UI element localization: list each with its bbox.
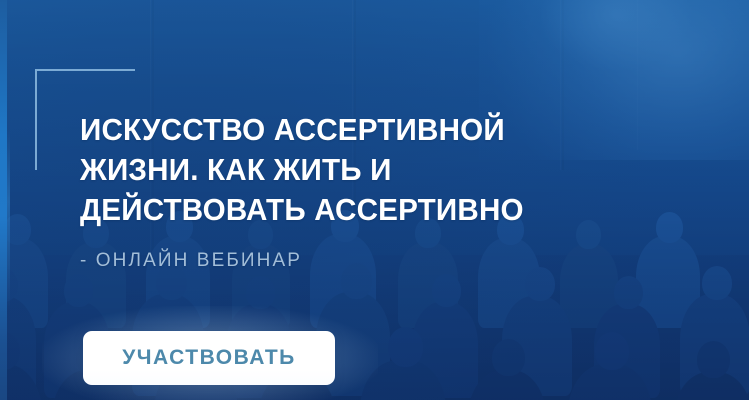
webinar-promo-banner: ИСКУССТВО АССЕРТИВНОЙ ЖИЗНИ. КАК ЖИТЬ И …	[0, 0, 749, 400]
banner-content: ИСКУССТВО АССЕРТИВНОЙ ЖИЗНИ. КАК ЖИТЬ И …	[0, 0, 749, 400]
headline-line-3: ДЕЙСТВОВАТЬ АССЕРТИВНО	[80, 190, 596, 230]
banner-subtitle: - ОНЛАЙН ВЕБИНАР	[80, 250, 302, 272]
participate-button[interactable]: УЧАСТВОВАТЬ	[83, 331, 335, 385]
headline-line-1: ИСКУССТВО АССЕРТИВНОЙ	[80, 110, 596, 150]
page-title: ИСКУССТВО АССЕРТИВНОЙ ЖИЗНИ. КАК ЖИТЬ И …	[80, 110, 596, 230]
headline-line-2: ЖИЗНИ. КАК ЖИТЬ И	[80, 150, 596, 190]
